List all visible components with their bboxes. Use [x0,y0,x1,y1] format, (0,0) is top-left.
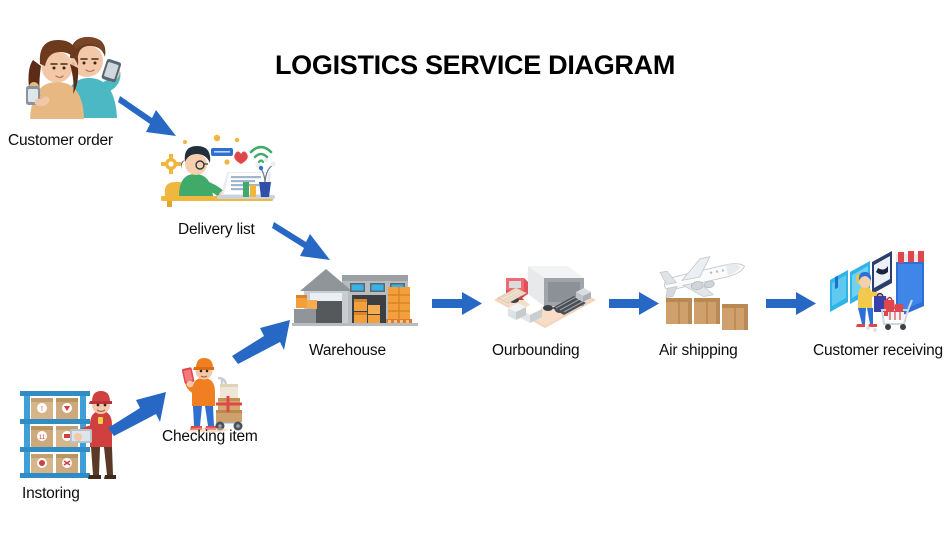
label-ourbounding: Ourbounding [492,342,579,360]
svg-text:11: 11 [39,435,46,441]
label-delivery-list: Delivery list [178,221,255,239]
label-checking-item: Checking item [162,428,258,446]
label-customer-order: Customer order [8,132,113,150]
arrow-instoring-to-checking-item [108,386,170,436]
node-warehouse[interactable] [292,255,418,333]
node-ourbounding[interactable] [492,248,598,334]
arrow-air-shipping-to-customer-receiving [766,291,816,316]
diagram-canvas: LOGISTICS SERVICE DIAGRAM [0,0,950,541]
node-delivery-list[interactable] [155,128,285,218]
label-instoring: Instoring [22,485,80,503]
label-customer-receiving: Customer receiving [813,342,943,360]
arrow-checking-item-to-warehouse [232,312,294,364]
label-air-shipping: Air shipping [659,342,738,360]
isometric-truck-loading-dock-icon [492,248,598,334]
airplane-with-cargo-boxes-icon [652,250,758,334]
node-customer-receiving[interactable] [822,248,934,334]
person-at-laptop-illustration [155,128,285,218]
worker-with-hand-truck-illustration [178,352,256,432]
page-title: LOGISTICS SERVICE DIAGRAM [0,50,950,81]
warehouse-building-icon [292,255,418,333]
label-warehouse: Warehouse [309,342,386,360]
node-checking-item[interactable] [178,352,256,432]
arrow-warehouse-to-ourbounding [432,291,482,316]
isometric-shopper-storefront-icon [822,248,934,334]
node-air-shipping[interactable] [652,250,758,334]
svg-text:!: ! [41,406,43,413]
